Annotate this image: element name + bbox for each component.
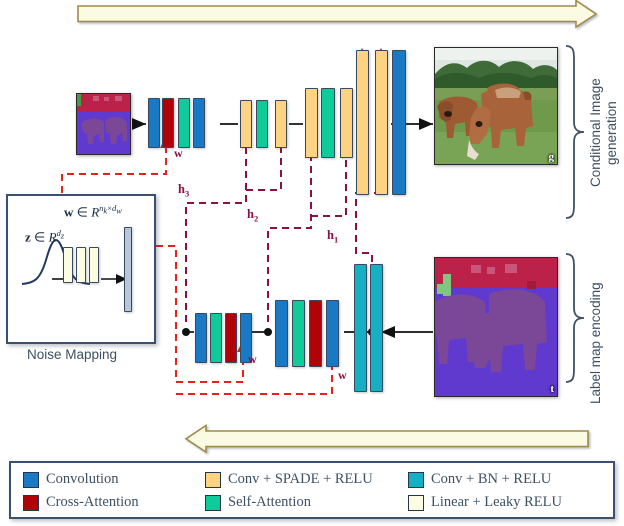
generated-image: g (434, 47, 558, 165)
legend-panel: Convolution Cross-Attention Conv + SPADE… (9, 461, 615, 519)
gen-s2-spade-2 (275, 100, 287, 148)
gen-s1-conv-1 (148, 98, 160, 148)
conditional-image-generation-flow-arrow (78, 1, 596, 28)
enc-s1-bn-1 (354, 264, 367, 392)
w-label-encoder-stage2: w (338, 368, 347, 383)
legend-swatch-conv-spade-relu (205, 472, 221, 488)
legend-item-linear-leaky-relu: Linear + Leaky RELU (408, 494, 562, 511)
w-label-generator: w (174, 146, 183, 161)
gen-s3-spade-1 (305, 88, 318, 158)
label-map-input-tag: t (550, 383, 554, 395)
noise-output-label: w ∈ Rnk×dw (64, 203, 122, 220)
side-label-conditional-image-generation: Conditional Image generation (588, 48, 620, 218)
skip-label-h2: h2 (247, 207, 258, 224)
legend-swatch-convolution (23, 472, 39, 488)
noise-input-label: z ∈ Rdz (25, 228, 64, 245)
legend-item-conv-bn-relu: Conv + BN + RELU (408, 471, 551, 488)
gen-s3-self (321, 88, 335, 158)
legend-swatch-conv-bn-relu (408, 472, 424, 488)
legend-swatch-cross-attention (23, 495, 39, 511)
legend-item-cross-attention: Cross-Attention (23, 494, 139, 511)
noise-w-vector (124, 227, 132, 312)
legend-label-linear-leaky-relu: Linear + Leaky RELU (431, 494, 562, 511)
side-label-label-map-encoding: Label map encoding (588, 258, 620, 428)
gen-s2-spade-1 (240, 100, 252, 148)
gen-s4-spade-2 (375, 50, 388, 195)
legend-label-cross-attention: Cross-Attention (46, 494, 139, 511)
legend-label-conv-bn-relu: Conv + BN + RELU (431, 471, 551, 488)
gen-s3-spade-2 (340, 88, 353, 158)
legend-label-convolution: Convolution (46, 471, 119, 488)
enc-s2-cross (309, 300, 322, 367)
gen-s4-conv (392, 50, 406, 195)
legend-item-self-attention: Self-Attention (205, 494, 311, 511)
input-label-map-thumb (76, 93, 131, 155)
legend-swatch-linear-leaky-relu (408, 495, 424, 511)
gen-s1-cross (162, 98, 174, 148)
legend-label-conv-spade-relu: Conv + SPADE + RELU (228, 471, 373, 488)
noise-linear-layer-2 (76, 247, 86, 283)
skip-label-h3: h3 (178, 182, 189, 199)
legend-swatch-self-attention (205, 495, 221, 511)
generated-image-tag: g (549, 151, 555, 163)
gen-s4-spade-1 (356, 50, 369, 195)
enc-s1-bn-2 (370, 264, 383, 392)
noise-linear-layer-1 (63, 247, 73, 283)
skip-label-h1: h1 (327, 228, 338, 245)
enc-s2-conv-2 (326, 300, 339, 367)
enc-s3-cross (225, 313, 237, 363)
gen-s1-conv-2 (193, 98, 205, 148)
noise-mapping-caption: Noise Mapping (27, 347, 117, 362)
enc-s2-conv-1 (275, 300, 288, 367)
label-map-encoding-flow-arrow (186, 426, 588, 453)
enc-s2-self (292, 300, 305, 367)
encoder-arrowheads (381, 326, 395, 338)
label-map-input: t (434, 257, 558, 397)
legend-label-self-attention: Self-Attention (228, 494, 311, 511)
legend-item-conv-spade-relu: Conv + SPADE + RELU (205, 471, 373, 488)
noise-linear-layer-3 (89, 247, 99, 283)
w-label-encoder-stage3: w (248, 352, 257, 367)
gen-s2-self (256, 100, 268, 148)
legend-item-convolution: Convolution (23, 471, 119, 488)
enc-s3-conv-1 (195, 313, 207, 363)
enc-s3-self (210, 313, 222, 363)
gen-s1-self (178, 98, 190, 148)
